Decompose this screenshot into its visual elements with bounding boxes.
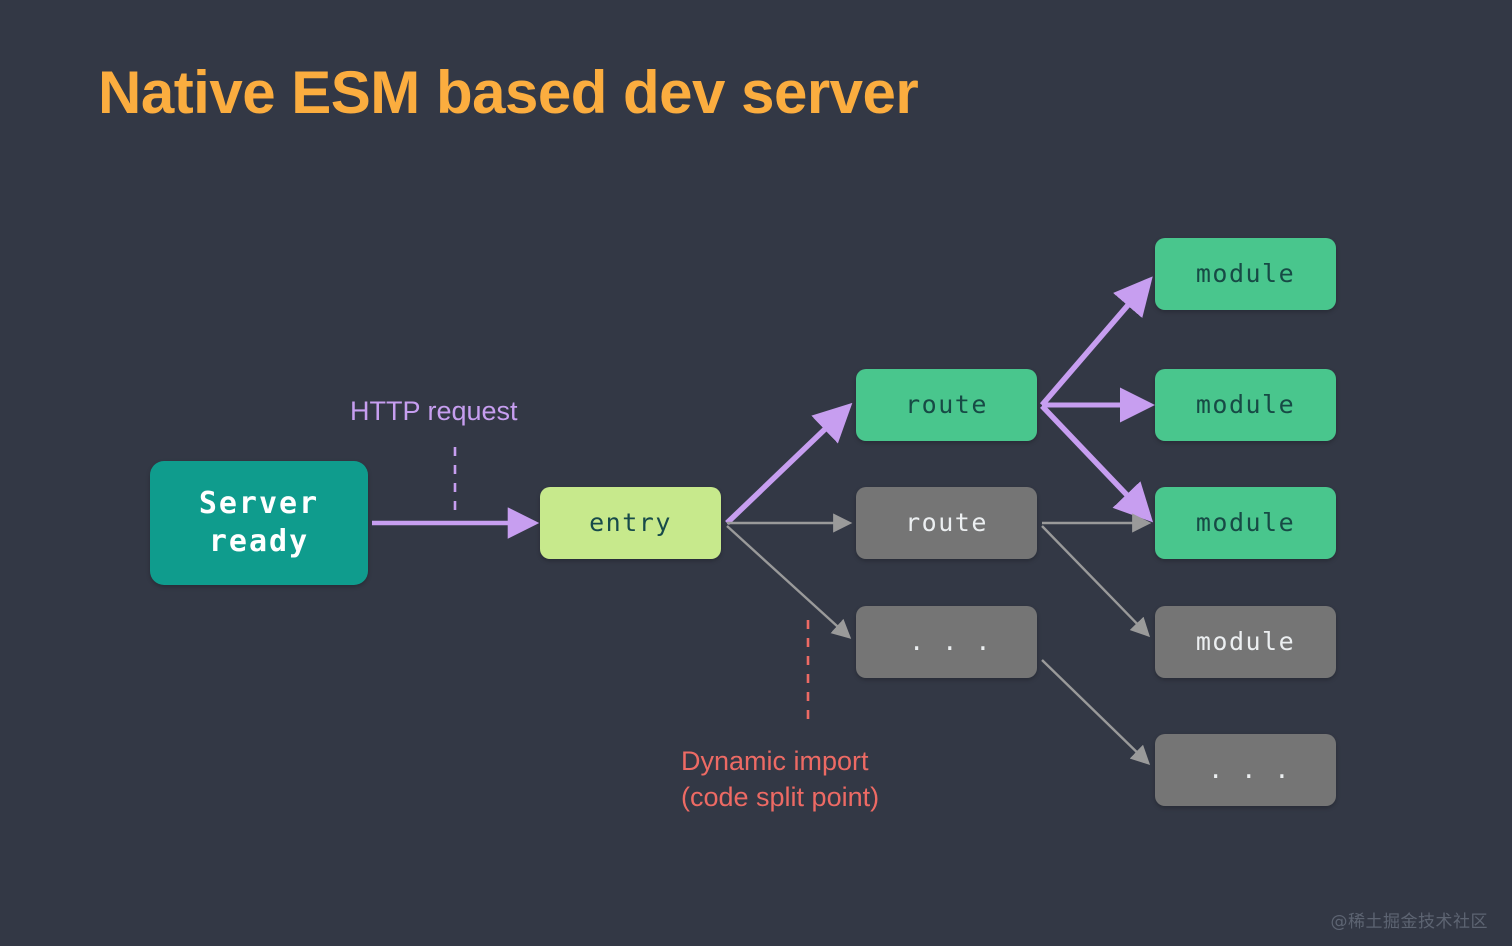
node-route-gray-label: route	[905, 508, 988, 539]
edge-route-green-to-module-1	[1042, 283, 1147, 405]
slide-canvas: Native ESM based dev server	[0, 0, 1512, 946]
edge-entry-to-dots-mid	[727, 526, 848, 636]
edge-entry-to-route-green	[727, 409, 846, 523]
node-server-ready[interactable]: Server ready	[150, 461, 368, 585]
node-module-1[interactable]: module	[1155, 238, 1336, 310]
node-module-3-label: module	[1196, 508, 1295, 539]
node-dots-end-label: . . .	[1200, 755, 1291, 786]
node-route-green-label: route	[905, 390, 988, 421]
annotation-http-request: HTTP request	[350, 396, 518, 427]
edge-route-green-to-module-3	[1042, 406, 1147, 516]
node-route-green[interactable]: route	[856, 369, 1037, 441]
node-dots-middle-label: . . .	[901, 627, 992, 658]
node-module-4-label: module	[1196, 627, 1295, 658]
node-module-2[interactable]: module	[1155, 369, 1336, 441]
watermark: @稀土掘金技术社区	[1331, 907, 1489, 932]
node-entry[interactable]: entry	[540, 487, 721, 559]
node-entry-label: entry	[589, 508, 672, 539]
node-server-ready-label: Server ready	[150, 485, 368, 562]
node-module-2-label: module	[1196, 390, 1295, 421]
edge-dots-mid-to-dots-end	[1042, 660, 1147, 762]
node-dots-middle[interactable]: . . .	[856, 606, 1037, 678]
node-route-gray[interactable]: route	[856, 487, 1037, 559]
node-module-4[interactable]: module	[1155, 606, 1336, 678]
annotation-dynamic-import: Dynamic import (code split point)	[681, 743, 879, 815]
node-dots-end[interactable]: . . .	[1155, 734, 1336, 806]
node-module-1-label: module	[1196, 259, 1295, 290]
node-module-3[interactable]: module	[1155, 487, 1336, 559]
edge-route-gray-to-module-4	[1042, 526, 1147, 634]
page-title: Native ESM based dev server	[98, 58, 918, 127]
